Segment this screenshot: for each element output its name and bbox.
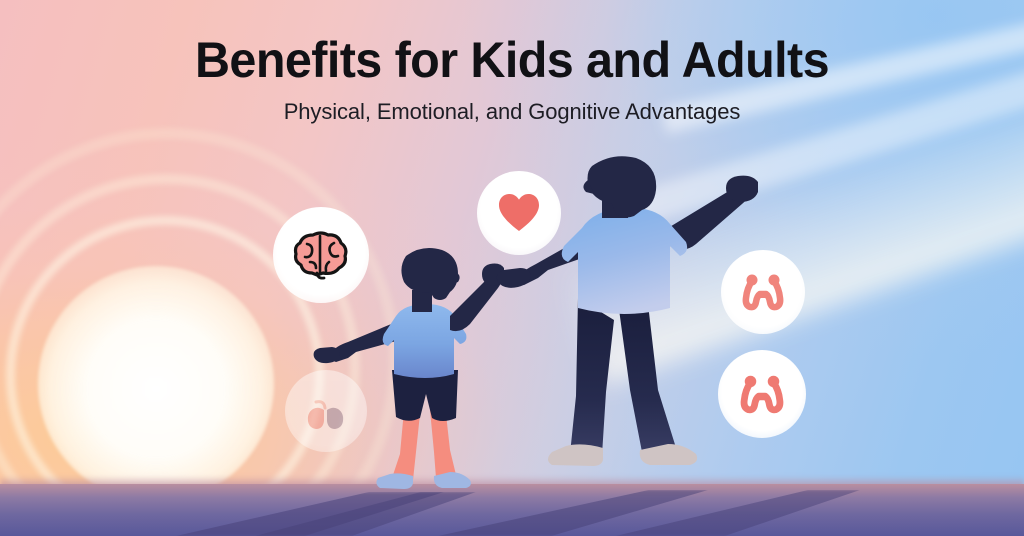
page-subtitle: Physical, Emotional, and Gognitive Advan… — [0, 99, 1024, 125]
badge-muscle-upper[interactable] — [721, 250, 805, 334]
adult-left-hand — [497, 268, 531, 288]
badge-brain[interactable] — [273, 207, 369, 303]
sun-icon — [38, 266, 274, 502]
heart-icon — [497, 193, 541, 233]
brain-icon — [293, 229, 349, 281]
adult-left-leg — [570, 298, 614, 463]
illustration-canvas: Benefits for Kids and Adults Physical, E… — [0, 0, 1024, 536]
adult-shirt — [562, 208, 687, 314]
adult-right-hand — [726, 176, 758, 202]
title-block: Benefits for Kids and Adults Physical, E… — [0, 34, 1024, 125]
badge-lungs[interactable] — [285, 370, 367, 452]
badge-heart[interactable] — [477, 171, 561, 255]
adult-head — [588, 156, 657, 217]
badge-muscle-lower[interactable] — [718, 350, 806, 438]
child-left-shoe — [376, 473, 413, 489]
muscle-icon — [741, 272, 785, 312]
muscle-icon — [739, 373, 785, 415]
adult-left-shoe — [548, 444, 603, 466]
page-title: Benefits for Kids and Adults — [15, 34, 1008, 87]
adult-right-leg — [618, 302, 678, 461]
lungs-icon — [304, 390, 348, 432]
child-neck — [412, 290, 432, 312]
